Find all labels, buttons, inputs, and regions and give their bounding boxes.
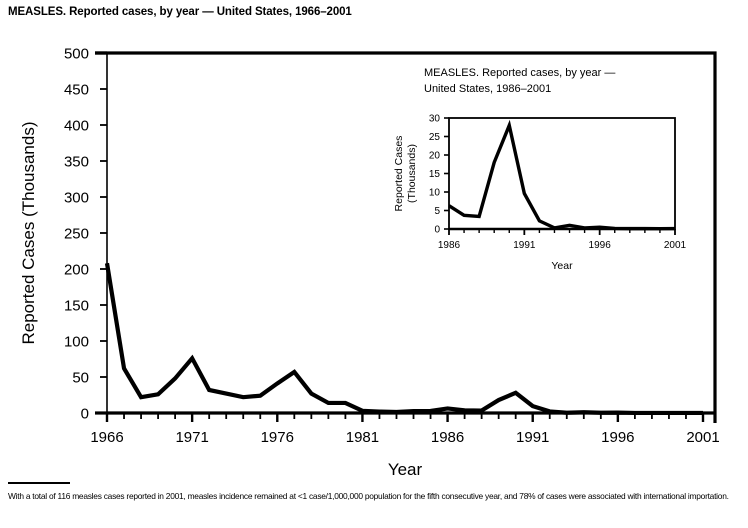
main-x-tick-label: 1991 xyxy=(516,429,549,446)
main-y-tick-label: 450 xyxy=(64,82,89,99)
inset-data-line xyxy=(449,125,675,228)
main-y-tick-label: 500 xyxy=(64,46,89,63)
inset-y-tick-label: 20 xyxy=(429,151,441,162)
main-y-tick-label: 100 xyxy=(64,334,89,351)
footnote-block: With a total of 116 measles cases report… xyxy=(8,482,740,502)
inset-x-tick-label: 1991 xyxy=(513,240,536,251)
main-x-tick-label: 1981 xyxy=(346,429,379,446)
footnote-text: With a total of 116 measles cases report… xyxy=(8,490,734,502)
inset-y-axis-title: (Thousands) xyxy=(406,144,418,203)
inset-y-tick-label: 5 xyxy=(434,206,440,217)
main-y-tick-label: 250 xyxy=(64,226,89,243)
inset-x-tick-label: 2001 xyxy=(664,240,687,251)
footnote-divider xyxy=(8,482,70,484)
main-y-tick-label: 0 xyxy=(81,406,89,423)
main-x-axis-title: Year xyxy=(388,460,423,478)
main-plot-frame xyxy=(95,53,715,423)
inset-x-tick-label: 1996 xyxy=(589,240,612,251)
measles-line-chart-svg: 0501001502002503003504004505001966197119… xyxy=(0,28,748,478)
page-title: MEASLES. Reported cases, by year — Unite… xyxy=(8,6,352,18)
inset-y-tick-label: 25 xyxy=(429,132,441,143)
inset-plot: MEASLES. Reported cases, by year —United… xyxy=(393,67,687,272)
main-y-tick-label: 150 xyxy=(64,298,89,315)
main-x-tick-label: 1966 xyxy=(90,429,123,446)
inset-y-tick-label: 10 xyxy=(429,188,441,199)
main-y-axis-title: Reported Cases (Thousands) xyxy=(19,121,38,344)
inset-x-axis-title: Year xyxy=(551,260,573,272)
main-y-tick-label: 350 xyxy=(64,154,89,171)
main-x-tick-label: 1996 xyxy=(601,429,634,446)
chart-figure: 0501001502002503003504004505001966197119… xyxy=(0,28,748,478)
main-plot: 0501001502002503003504004505001966197119… xyxy=(19,46,720,479)
inset-x-tick-label: 1986 xyxy=(438,240,461,251)
main-x-tick-label: 1986 xyxy=(431,429,464,446)
inset-y-tick-label: 0 xyxy=(434,225,440,236)
main-data-line xyxy=(107,263,703,413)
main-x-tick-label: 2001 xyxy=(686,429,719,446)
main-x-tick-label: 1976 xyxy=(261,429,294,446)
main-y-tick-label: 300 xyxy=(64,190,89,207)
main-y-tick-label: 50 xyxy=(72,370,89,387)
inset-y-tick-label: 15 xyxy=(429,169,441,180)
main-x-tick-label: 1971 xyxy=(175,429,208,446)
inset-chart-title: MEASLES. Reported cases, by year — xyxy=(424,67,615,79)
inset-plot-frame xyxy=(449,118,675,229)
inset-y-tick-label: 30 xyxy=(429,114,441,125)
inset-y-axis-title: Reported Cases xyxy=(393,136,405,212)
main-y-tick-label: 200 xyxy=(64,262,89,279)
main-y-tick-label: 400 xyxy=(64,118,89,135)
inset-chart-title: United States, 1986–2001 xyxy=(424,83,551,95)
